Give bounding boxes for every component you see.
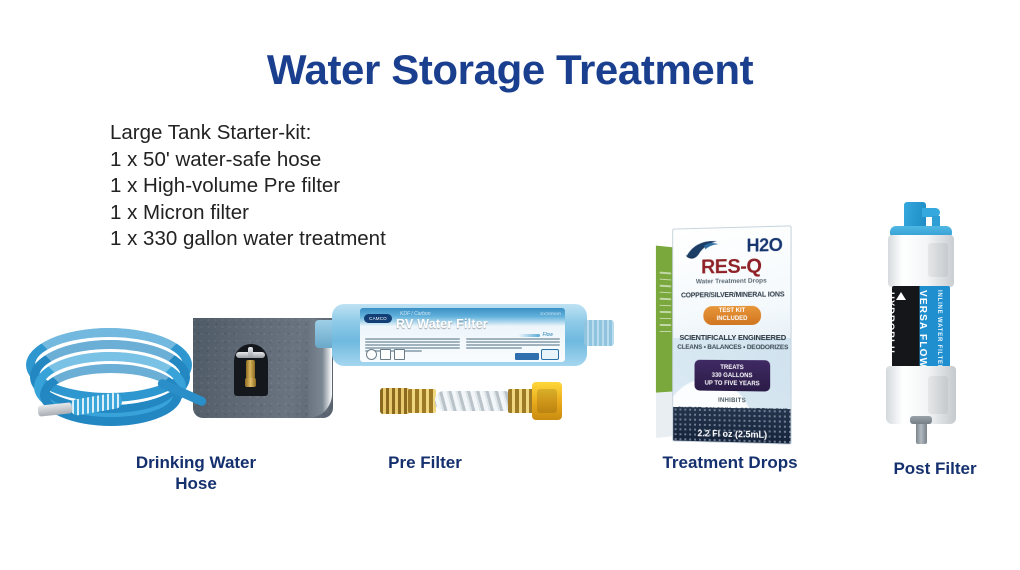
kit-heading: Large Tank Starter-kit: [110, 120, 530, 147]
box-ions-line: COPPER/SILVER/MINERAL IONS [677, 291, 788, 299]
prefilter-label: CAMCO KDF / Carbon EXTERIOR RV Water Fil… [360, 308, 565, 362]
box-benefits-line: CLEANS • BALANCES • DEODORIZES [676, 344, 789, 351]
kit-line-1: 1 x 50' water-safe hose [110, 147, 530, 174]
prefilter-exterior-text: EXTERIOR [541, 311, 561, 316]
spigot-body [246, 360, 255, 380]
product-image-pre-filter: CAMCO KDF / Carbon EXTERIOR RV Water Fil… [312, 296, 622, 441]
brand-tagline: Water Treatment Drops [682, 277, 781, 285]
caption-pre-filter: Pre Filter [330, 452, 520, 473]
connector-flex-tube [435, 391, 513, 411]
connector-yellow-nut [532, 382, 562, 420]
kit-line-2: 1 x High-volume Pre filter [110, 173, 530, 200]
page-title: Water Storage Treatment [0, 46, 1020, 94]
prefilter-outlet-thread [584, 320, 614, 346]
postfilter-product-name: VERSA FLOW [914, 290, 928, 368]
postfilter-label-band: HYDROBLU VERSA FLOW INLINE WATER FILTER [892, 286, 950, 370]
product-image-drinking-water-hose [8, 310, 328, 450]
prefilter-nsf-badge [541, 349, 559, 360]
postfilter-cap-tether [922, 208, 940, 217]
postfilter-outlet-stem [916, 420, 927, 444]
postfilter-brand: HYDROBLU [892, 292, 896, 364]
box-side-panel [656, 231, 674, 438]
box-side-text-lines [660, 272, 672, 337]
box-front-panel: H2O RES-Q Water Treatment Drops COPPER/S… [672, 225, 791, 444]
postfilter-descriptor: INLINE WATER FILTER [932, 290, 942, 368]
connector-brass-hex [408, 389, 436, 413]
badge-test-kit: TEST KIT INCLUDED [703, 306, 761, 325]
box-bottom-band: Active Ingredients: Copper 0.10%, Silver… [673, 407, 790, 444]
brand-resq: RES-Q [682, 255, 781, 280]
caption-line-2: Hose [96, 473, 296, 494]
product-image-post-filter: HYDROBLU VERSA FLOW INLINE WATER FILTER [878, 202, 974, 447]
slide-canvas: Water Storage Treatment Large Tank Start… [0, 0, 1020, 570]
product-image-treatment-drops: H2O RES-Q Water Treatment Drops COPPER/S… [653, 223, 805, 445]
brand-h2o: H2O [746, 235, 782, 257]
caption-line-1: Drinking Water [96, 452, 296, 473]
caption-treatment-drops: Treatment Drops [630, 452, 830, 473]
badge-test-kit-line-2: INCLUDED [703, 315, 761, 323]
prefilter-cert-badges [366, 349, 405, 360]
box-volume: 2.2 Fl oz (2.5mL) [676, 428, 789, 441]
tank-spigot-niche [234, 344, 268, 396]
kit-description-block: Large Tank Starter-kit: 1 x 50' water-sa… [110, 120, 530, 253]
caption-post-filter: Post Filter [845, 458, 1020, 479]
spigot-outlet [245, 378, 256, 387]
kit-line-3: 1 x Micron filter [110, 200, 530, 227]
hose-flex-connector [380, 380, 570, 422]
spigot-handle-icon [236, 352, 265, 358]
kit-line-4: 1 x 330 gallon water treatment [110, 226, 530, 253]
caption-drinking-water-hose: Drinking Water Hose [96, 452, 296, 494]
badge-treats: TREATS 330 GALLONS UP TO FIVE YEARS [695, 360, 771, 392]
box-engineered-line: SCIENTIFICALLY ENGINEERED [676, 333, 789, 342]
prefilter-brand-logo: CAMCO [364, 314, 392, 323]
connector-brass-nut [380, 388, 410, 414]
postfilter-logo-icon [896, 292, 906, 300]
prefilter-made-badge [515, 353, 539, 360]
badge-treats-line-3: UP TO FIVE YEARS [695, 379, 771, 388]
postfilter-upper-housing [888, 235, 954, 287]
prefilter-product-title: RV Water Filter [396, 317, 488, 331]
